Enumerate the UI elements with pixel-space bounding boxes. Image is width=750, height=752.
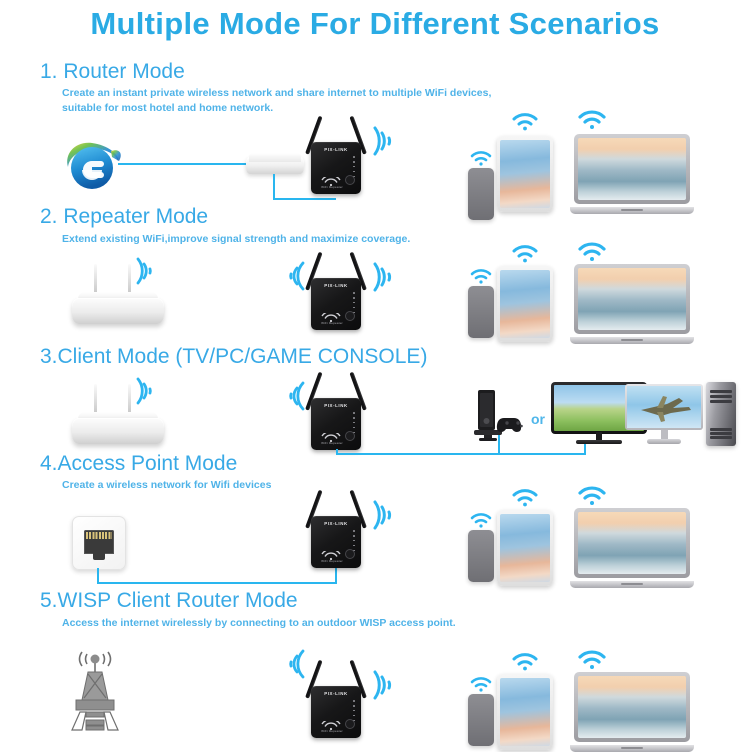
wps-button[interactable] (345, 311, 355, 321)
modem-icon (246, 153, 304, 177)
wifi-arcs-router-3 (134, 376, 160, 411)
laptop-device-4 (570, 508, 694, 588)
device-sub-label: WiFi Repeater (317, 729, 347, 733)
section-4-subtitle-line1: Create a wireless network for Wifi devic… (62, 478, 271, 493)
pix-link-repeater-1: PIX-LINK WiFi Repeater (303, 116, 369, 194)
section-2-heading: 2. Repeater Mode (40, 205, 208, 229)
wire-internet-to-modem (118, 163, 250, 165)
laptop-device-1 (570, 134, 694, 214)
wifi-glyph-icon (320, 429, 342, 438)
internet-explorer-icon (62, 137, 124, 193)
desktop-monitor-icon (625, 384, 703, 444)
tablet-device-5 (497, 674, 553, 750)
game-console-icon (470, 388, 528, 444)
ethernet-wall-jack-icon (72, 516, 126, 570)
wire-jack-to-repeater (97, 582, 336, 584)
pix-link-repeater-5: PIX-LINK WiFi Repeater (303, 660, 369, 738)
wps-button[interactable] (345, 549, 355, 559)
wifi-arc-tablet-4 (512, 488, 538, 512)
wifi-arc-laptop-1 (578, 110, 606, 135)
wps-button[interactable] (345, 719, 355, 729)
device-brand-label: PIX-LINK (311, 283, 361, 288)
pix-link-repeater-2: PIX-LINK WiFi Repeater (303, 252, 369, 330)
tablet-device-4 (497, 510, 553, 586)
wps-button[interactable] (345, 431, 355, 441)
wisp-tower-icon (58, 646, 132, 732)
wifi-arc-tablet-2 (512, 244, 538, 268)
smartphone-device-1 (468, 168, 494, 220)
laptop-device-5 (570, 672, 694, 752)
section-3-heading: 3.Client Mode (TV/PC/GAME CONSOLE) (40, 345, 427, 369)
device-brand-label: PIX-LINK (311, 403, 361, 408)
wifi-glyph-icon (320, 173, 342, 182)
wifi-signal-arcs-5 (371, 668, 401, 707)
smartphone-device-4 (468, 530, 494, 582)
device-sub-label: WiFi Repeater (317, 185, 347, 189)
device-brand-label: PIX-LINK (311, 147, 361, 152)
wire-modem-to-repeater (273, 198, 336, 200)
pix-link-repeater-4: PIX-LINK WiFi Repeater (303, 490, 369, 568)
wire-repeater-drop-4 (335, 568, 337, 584)
device-sub-label: WiFi Repeater (317, 321, 347, 325)
or-label-1: or (531, 411, 545, 427)
wire-bus-3 (336, 453, 586, 455)
section-1-subtitle-line2: suitable for most hotel and home network… (62, 101, 273, 116)
wifi-signal-arcs-4 (371, 498, 401, 537)
wifi-glyph-icon (320, 717, 342, 726)
section-1-heading: 1. Router Mode (40, 60, 185, 84)
tablet-device-2 (497, 266, 553, 342)
section-4-heading: 4.Access Point Mode (40, 452, 237, 476)
page-title: Multiple Mode For Different Scenarios (0, 6, 750, 42)
wifi-signal-arcs-2 (371, 260, 401, 299)
device-sub-label: WiFi Repeater (317, 441, 347, 445)
device-brand-label: PIX-LINK (311, 691, 361, 696)
desktop-tower-icon (706, 382, 736, 446)
wire-modem-drop (273, 174, 275, 200)
wifi-arc-tablet-1 (512, 112, 538, 136)
wifi-signal-arcs-1 (371, 124, 401, 163)
tablet-device-1 (497, 136, 553, 212)
smartphone-device-2 (468, 286, 494, 338)
wifi-arc-tablet-5 (512, 652, 538, 676)
wps-button[interactable] (345, 175, 355, 185)
section-5-heading: 5.WISP Client Router Mode (40, 589, 298, 613)
section-1-subtitle-line1: Create an instant private wireless netwo… (62, 86, 491, 101)
wifi-glyph-icon (320, 547, 342, 556)
section-2-subtitle-line1: Extend existing WiFi,improve signal stre… (62, 232, 410, 247)
infographic-page: Multiple Mode For Different Scenarios 1.… (0, 0, 750, 750)
smartphone-device-5 (468, 694, 494, 746)
laptop-device-2 (570, 264, 694, 344)
section-5-subtitle-line1: Access the internet wirelessly by connec… (62, 616, 456, 631)
pix-link-repeater-3: PIX-LINK WiFi Repeater (303, 372, 369, 450)
device-sub-label: WiFi Repeater (317, 559, 347, 563)
wifi-arcs-router-2 (134, 256, 160, 291)
device-brand-label: PIX-LINK (311, 521, 361, 526)
wifi-glyph-icon (320, 309, 342, 318)
